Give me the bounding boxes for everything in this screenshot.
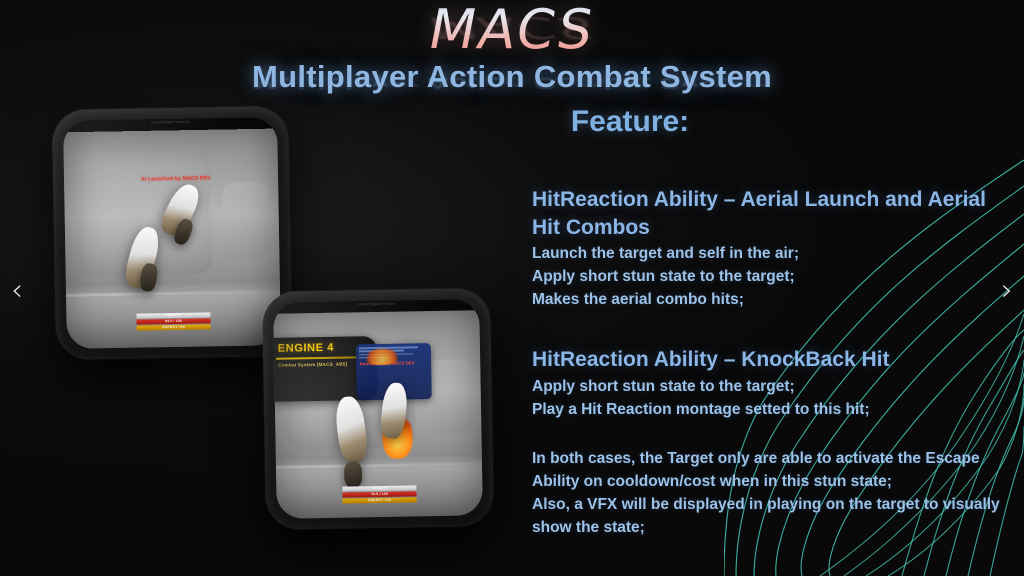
feature-heading: Feature: — [430, 105, 830, 139]
aerial-launch-screenshot[interactable]: Unreal Engine Viewport AI Launched by MA… — [52, 106, 292, 360]
hud-bar-energy-label: ENERGY 100 — [137, 324, 211, 330]
feature-block-knockback: HitReaction Ability – KnockBack Hit Appl… — [532, 346, 1002, 422]
scene-floor-line — [66, 290, 280, 297]
viewport-topbar-label: Unreal Engine Viewport — [151, 120, 189, 125]
feature-heading-knockback: HitReaction Ability – KnockBack Hit — [532, 346, 1002, 374]
viewport-topbar: Unreal Engine Viewport — [63, 117, 277, 132]
feature-block-aerial: HitReaction Ability – Aerial Launch and … — [532, 186, 1002, 312]
viewport-topbar: Unreal Engine Viewport — [273, 299, 479, 313]
feature-line: Makes the aerial combo hits; — [532, 289, 1002, 312]
screenshot-viewport: Unreal Engine Viewport AI Launched by MA… — [63, 117, 281, 349]
presentation-slide: MACS MACS Multiplayer Action Combat Syst… — [0, 0, 1024, 576]
note-line: show the state; — [532, 517, 1002, 540]
hud-bars: HEALTH 94.0 / 100 ENERGY 100 — [136, 312, 210, 331]
feature-line: Play a Hit Reaction montage setted to th… — [532, 399, 1002, 422]
scene-wall-right — [427, 360, 474, 434]
screenshot-viewport: Unreal Engine Viewport ENGINE 4 Combat S… — [273, 299, 483, 519]
scene-wall-right — [222, 181, 270, 259]
note-line: Ability on cooldown/cost when in this st… — [532, 471, 1002, 494]
vfx-flame-small — [365, 348, 399, 365]
character-attacker-gear — [344, 461, 362, 487]
hud-bar-energy-label: ENERGY 100 — [343, 497, 417, 503]
feature-lines-knockback: Apply short stun state to the target; Pl… — [532, 376, 1002, 422]
feature-line: Apply short stun state to the target; — [532, 376, 1002, 399]
hud-bars: HEALTH 76.5 / 100 ENERGY 100 — [342, 485, 416, 504]
hud-bar-energy: ENERGY 100 — [343, 497, 417, 503]
debug-overlay-text: AI Launched by MACS DEV — [141, 175, 211, 182]
scene-floor-line — [276, 463, 482, 470]
page-subtitle: Multiplayer Action Combat System — [0, 59, 1024, 95]
feature-heading-aerial: HitReaction Ability – Aerial Launch and … — [532, 186, 1002, 241]
stun-state-note: In both cases, the Target only are able … — [532, 448, 1002, 540]
knockback-hit-screenshot[interactable]: Unreal Engine Viewport ENGINE 4 Combat S… — [262, 288, 494, 530]
feature-line: Apply short stun state to the target; — [532, 266, 1002, 289]
viewport-topbar-label: Unreal Engine Viewport — [357, 302, 395, 307]
chevron-right-icon[interactable]: › — [992, 274, 1022, 308]
feature-line: Launch the target and self in the air; — [532, 243, 1002, 266]
chevron-left-icon[interactable]: ‹ — [2, 274, 32, 308]
note-line: In both cases, the Target only are able … — [532, 448, 1002, 471]
page-title: MACS — [0, 0, 1024, 61]
feature-list: HitReaction Ability – Aerial Launch and … — [532, 186, 1002, 540]
feature-lines-aerial: Launch the target and self in the air; A… — [532, 243, 1002, 312]
note-line: Also, a VFX will be displayed in playing… — [532, 494, 1002, 517]
hud-bar-energy: ENERGY 100 — [137, 324, 211, 330]
